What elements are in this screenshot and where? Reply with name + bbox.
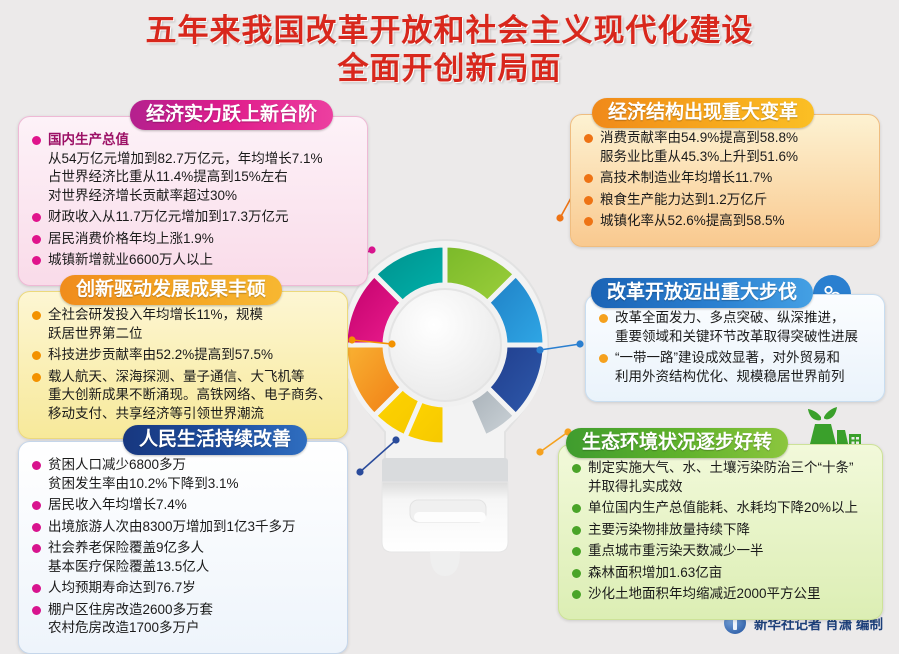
bullet-dot xyxy=(599,354,608,363)
card-structure-body: 消费贡献率由54.9%提高到58.8%服务业比重从45.3%上升到51.6%高技… xyxy=(570,114,880,247)
list-item: 居民消费价格年均上涨1.9% xyxy=(31,230,355,249)
list-item: 消费贡献率由54.9%提高到58.8%服务业比重从45.3%上升到51.6% xyxy=(583,129,867,166)
list-item-line: 全社会研发投入年均增长11%，规模 xyxy=(48,306,335,325)
card-livelihood-list: 贫困人口减少6800多万贫困发生率由10.2%下降到3.1%居民收入年均增长7.… xyxy=(31,456,335,638)
list-item: 贫困人口减少6800多万贫困发生率由10.2%下降到3.1% xyxy=(31,456,335,493)
list-item-line: 居民消费价格年均上涨1.9% xyxy=(48,230,355,249)
list-item: 全社会研发投入年均增长11%，规模跃居世界第二位 xyxy=(31,306,335,343)
list-item-line: 城镇化率从52.6%提高到58.5% xyxy=(600,212,867,231)
card-livelihood-heading: 人民生活持续改善 xyxy=(123,425,307,455)
list-item: 人均预期寿命达到76.7岁 xyxy=(31,579,335,598)
bullet-dot xyxy=(572,569,581,578)
card-economy-list: 国内生产总值从54万亿元增加到82.7万亿元，年均增长7.1%占世界经济比重从1… xyxy=(31,131,355,270)
bullet-dot xyxy=(32,136,41,145)
list-item-line: 人均预期寿命达到76.7岁 xyxy=(48,579,335,598)
list-item-line: 占世界经济比重从11.4%提高到15%左右 xyxy=(48,168,355,187)
list-item-line: 主要污染物排放量持续下降 xyxy=(588,521,870,540)
bullet-dot xyxy=(32,351,41,360)
bullet-dot xyxy=(32,256,41,265)
card-economy-body: 国内生产总值从54万亿元增加到82.7万亿元，年均增长7.1%占世界经济比重从1… xyxy=(18,116,368,286)
bullet-dot xyxy=(584,174,593,183)
list-item: 科技进步贡献率由52.2%提高到57.5% xyxy=(31,346,335,365)
title-line-1: 五年来我国改革开放和社会主义现代化建设 xyxy=(0,12,899,50)
list-item-line: 科技进步贡献率由52.2%提高到57.5% xyxy=(48,346,335,365)
list-item-line: 对世界经济增长贡献率超过30% xyxy=(48,187,355,206)
list-item-line: 制定实施大气、水、土壤污染防治三个“十条” xyxy=(588,459,870,478)
list-item: 社会养老保险覆盖9亿多人基本医疗保险覆盖13.5亿人 xyxy=(31,539,335,576)
title-line-2: 全面开创新局面 xyxy=(0,50,899,88)
list-item-line: 服务业比重从45.3%上升到51.6% xyxy=(600,148,867,167)
bullet-dot xyxy=(32,501,41,510)
list-item: 森林面积增加1.63亿亩 xyxy=(571,564,870,583)
bullet-dot xyxy=(32,235,41,244)
bullet-dot xyxy=(572,464,581,473)
list-item-line: “一带一路”建设成效显著，对外贸易和 xyxy=(615,349,872,368)
card-livelihood-body: 贫困人口减少6800多万贫困发生率由10.2%下降到3.1%居民收入年均增长7.… xyxy=(18,441,348,654)
card-innovation-heading: 创新驱动发展成果丰硕 xyxy=(60,275,282,305)
bullet-dot xyxy=(32,584,41,593)
infographic-canvas: 五年来我国改革开放和社会主义现代化建设 全面开创新局面 xyxy=(0,0,899,648)
list-item: 主要污染物排放量持续下降 xyxy=(571,521,870,540)
list-item-line: 基本医疗保险覆盖13.5亿人 xyxy=(48,558,335,577)
list-item-line: 国内生产总值 xyxy=(48,131,355,150)
list-item-line: 高技术制造业年均增长11.7% xyxy=(600,169,867,188)
list-item: 制定实施大气、水、土壤污染防治三个“十条”并取得扎实成效 xyxy=(571,459,870,496)
list-item-line: 出境旅游人次由8300万增加到1亿3千多万 xyxy=(48,518,335,537)
list-item-line: 重要领域和关键环节改革取得突破性进展 xyxy=(615,328,872,347)
list-item-line: 农村危房改造1700多万户 xyxy=(48,619,335,638)
bullet-dot xyxy=(584,217,593,226)
list-item-line: 跃居世界第二位 xyxy=(48,325,335,344)
list-item-line: 棚户区住房改造2600多万套 xyxy=(48,601,335,620)
bullet-dot xyxy=(599,314,608,323)
bullet-dot xyxy=(572,590,581,599)
list-item-line: 贫困发生率由10.2%下降到3.1% xyxy=(48,475,335,494)
list-item-line: 并取得扎实成效 xyxy=(588,478,870,497)
list-item-line: 贫困人口减少6800多万 xyxy=(48,456,335,475)
list-item: 城镇化率从52.6%提高到58.5% xyxy=(583,212,867,231)
list-item-line: 财政收入从11.7万亿元增加到17.3万亿元 xyxy=(48,208,355,227)
list-item: 棚户区住房改造2600多万套农村危房改造1700多万户 xyxy=(31,601,335,638)
list-item-line: 载人航天、深海探测、量子通信、大飞机等 xyxy=(48,368,335,387)
bullet-dot xyxy=(32,606,41,615)
card-livelihood: 人民生活持续改善 贫困人口减少6800多万贫困发生率由10.2%下降到3.1%居… xyxy=(18,425,348,654)
list-item-line: 单位国内生产总值能耗、水耗均下降20%以上 xyxy=(588,499,870,518)
bullet-dot xyxy=(572,504,581,513)
list-item-line: 森林面积增加1.63亿亩 xyxy=(588,564,870,583)
bullet-dot xyxy=(32,461,41,470)
card-economy-heading: 经济实力跃上新台阶 xyxy=(130,100,333,130)
list-item-line: 改革全面发力、多点突破、纵深推进， xyxy=(615,309,872,328)
card-innovation-list: 全社会研发投入年均增长11%，规模跃居世界第二位科技进步贡献率由52.2%提高到… xyxy=(31,306,335,423)
list-item: 单位国内生产总值能耗、水耗均下降20%以上 xyxy=(571,499,870,518)
list-item: 国内生产总值从54万亿元增加到82.7万亿元，年均增长7.1%占世界经济比重从1… xyxy=(31,131,355,205)
list-item: “一带一路”建设成效显著，对外贸易和利用外资结构优化、规模稳居世界前列 xyxy=(598,349,872,386)
lightbulb-graphic xyxy=(330,232,560,632)
list-item-line: 利用外资结构优化、规模稳居世界前列 xyxy=(615,368,872,387)
card-reform-heading: 改革开放迈出重大步伐 xyxy=(591,278,813,308)
card-ecology-list: 制定实施大气、水、土壤污染防治三个“十条”并取得扎实成效单位国内生产总值能耗、水… xyxy=(571,459,870,604)
list-item-line: 粮食生产能力达到1.2万亿斤 xyxy=(600,191,867,210)
card-innovation-body: 全社会研发投入年均增长11%，规模跃居世界第二位科技进步贡献率由52.2%提高到… xyxy=(18,291,348,439)
list-item-line: 重大创新成果不断涌现。高铁网络、电子商务、 xyxy=(48,386,335,405)
bullet-dot xyxy=(584,196,593,205)
card-reform-body: 改革全面发力、多点突破、纵深推进，重要领域和关键环节改革取得突破性进展“一带一路… xyxy=(585,294,885,402)
list-item-line: 社会养老保险覆盖9亿多人 xyxy=(48,539,335,558)
list-item-line: 移动支付、共享经济等引领世界潮流 xyxy=(48,405,335,424)
bullet-dot xyxy=(32,311,41,320)
list-item: 高技术制造业年均增长11.7% xyxy=(583,169,867,188)
list-item-line: 重点城市重污染天数减少一半 xyxy=(588,542,870,561)
list-item: 重点城市重污染天数减少一半 xyxy=(571,542,870,561)
card-reform: 改革开放迈出重大步伐 改革全面发力、多点突破、纵深推进，重要领域和关键环节改革取… xyxy=(585,278,885,402)
card-structure: 经济结构出现重大变革 消费贡献率由54.9%提高到58.8%服务业比重从45.3… xyxy=(570,98,880,247)
list-item-line: 居民收入年均增长7.4% xyxy=(48,496,335,515)
bullet-dot xyxy=(572,526,581,535)
card-structure-list: 消费贡献率由54.9%提高到58.8%服务业比重从45.3%上升到51.6%高技… xyxy=(583,129,867,231)
list-item-line: 消费贡献率由54.9%提高到58.8% xyxy=(600,129,867,148)
list-item-line: 从54万亿元增加到82.7万亿元，年均增长7.1% xyxy=(48,150,355,169)
card-economy: 经济实力跃上新台阶 国内生产总值从54万亿元增加到82.7万亿元，年均增长7.1… xyxy=(18,100,368,286)
card-ecology-body: 制定实施大气、水、土壤污染防治三个“十条”并取得扎实成效单位国内生产总值能耗、水… xyxy=(558,444,883,620)
bullet-dot xyxy=(32,544,41,553)
list-item: 沙化土地面积年均缩减近2000平方公里 xyxy=(571,585,870,604)
card-reform-list: 改革全面发力、多点突破、纵深推进，重要领域和关键环节改革取得突破性进展“一带一路… xyxy=(598,309,872,386)
bullet-dot xyxy=(32,213,41,222)
bullet-dot xyxy=(572,547,581,556)
bullet-dot xyxy=(32,523,41,532)
bullet-dot xyxy=(584,134,593,143)
list-item: 改革全面发力、多点突破、纵深推进，重要领域和关键环节改革取得突破性进展 xyxy=(598,309,872,346)
list-item: 粮食生产能力达到1.2万亿斤 xyxy=(583,191,867,210)
card-ecology-heading: 生态环境状况逐步好转 xyxy=(566,428,788,458)
bullet-dot xyxy=(32,373,41,382)
list-item: 居民收入年均增长7.4% xyxy=(31,496,335,515)
list-item: 载人航天、深海探测、量子通信、大飞机等重大创新成果不断涌现。高铁网络、电子商务、… xyxy=(31,368,335,424)
list-item-line: 沙化土地面积年均缩减近2000平方公里 xyxy=(588,585,870,604)
card-ecology: 生态环境状况逐步好转 制定实施大气、水、土壤污染防治三个“十条”并取得扎实成效单… xyxy=(558,428,883,620)
list-item: 出境旅游人次由8300万增加到1亿3千多万 xyxy=(31,518,335,537)
list-item: 财政收入从11.7万亿元增加到17.3万亿元 xyxy=(31,208,355,227)
list-item: 城镇新增就业6600万人以上 xyxy=(31,251,355,270)
card-innovation: 创新驱动发展成果丰硕 全社会研发投入年均增长11%，规模跃居世界第二位科技进步贡… xyxy=(18,275,348,439)
list-item-line: 城镇新增就业6600万人以上 xyxy=(48,251,355,270)
page-title: 五年来我国改革开放和社会主义现代化建设 全面开创新局面 xyxy=(0,12,899,88)
card-structure-heading: 经济结构出现重大变革 xyxy=(592,98,814,128)
